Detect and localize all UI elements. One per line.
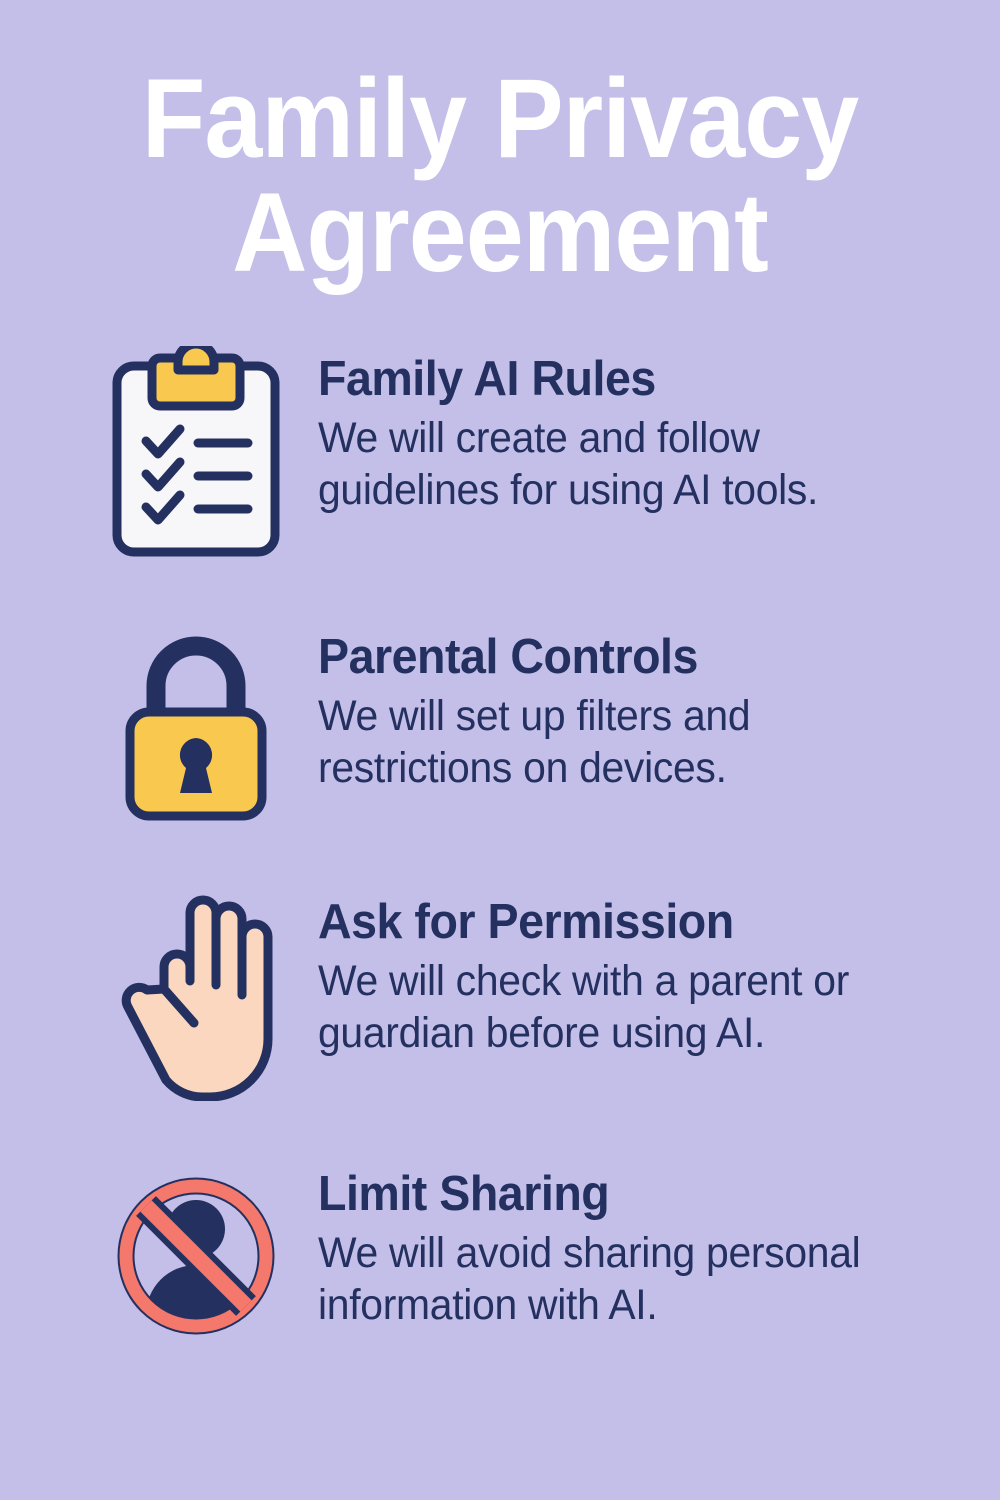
no-person-sharing-icon [96,1155,296,1351]
padlock-icon [96,618,296,824]
list-item: Ask for Permission We will check with a … [0,883,1000,1155]
agreement-list: Family AI Rules We will create and follo… [0,340,1000,1420]
list-item: Parental Controls We will set up filters… [0,618,1000,883]
list-item-description: We will set up filters and restrictions … [318,690,928,795]
list-item-description: We will avoid sharing personal informati… [318,1227,928,1332]
list-item-title: Limit Sharing [318,1169,928,1220]
list-item-description: We will create and follow guidelines for… [318,412,928,517]
list-item-text: Family AI Rules We will create and follo… [296,340,960,517]
infographic-poster: Family Privacy Agreement [0,0,1000,1500]
list-item-text: Ask for Permission We will check with a … [296,883,960,1060]
list-item: Family AI Rules We will create and follo… [0,340,1000,618]
list-item-text: Limit Sharing We will avoid sharing pers… [296,1155,960,1332]
title-line-1: Family Privacy [72,62,928,176]
raised-hand-icon [96,883,296,1101]
title-line-2: Agreement [72,176,928,290]
list-item-title: Parental Controls [318,632,928,683]
poster-title: Family Privacy Agreement [0,62,1000,290]
list-item-text: Parental Controls We will set up filters… [296,618,960,795]
list-item: Limit Sharing We will avoid sharing pers… [0,1155,1000,1420]
list-item-title: Ask for Permission [318,897,928,948]
list-item-description: We will check with a parent or guardian … [318,955,928,1060]
list-item-title: Family AI Rules [318,354,928,405]
clipboard-checklist-icon [96,340,296,561]
